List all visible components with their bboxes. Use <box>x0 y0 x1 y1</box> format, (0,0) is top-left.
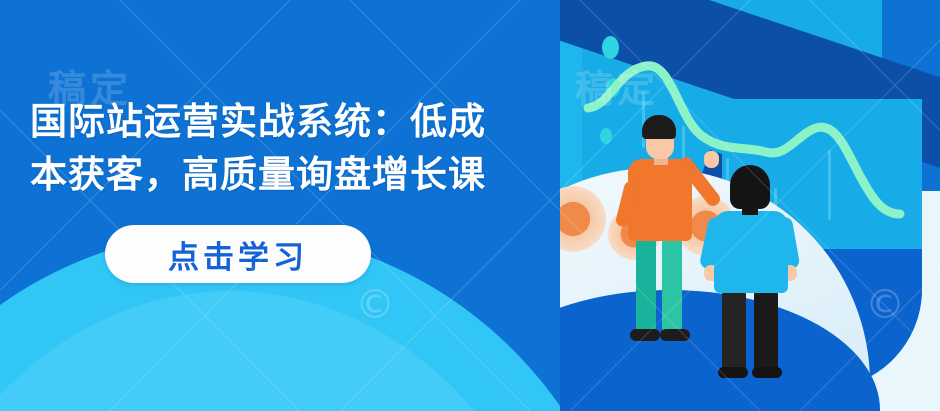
course-banner: 国际站运营实战系统：低成 本获客，高质量询盘增长课 点击学习 稿定 稿定 © © <box>0 0 940 411</box>
viewer-shoe-right <box>752 367 782 378</box>
cta-button[interactable]: 点击学习 <box>105 225 371 283</box>
headline-block: 国际站运营实战系统：低成 本获客，高质量询盘增长课 <box>30 96 630 201</box>
title-line-2: 本获客，高质量询盘增长课 <box>30 149 630 202</box>
presenter-shoe-right <box>660 329 690 341</box>
viewer-leg-left <box>722 289 746 373</box>
viewer-shoe-left <box>718 367 748 378</box>
viewer-torso <box>714 211 788 293</box>
figure-presenter <box>618 115 714 345</box>
presenter-torso <box>628 159 692 241</box>
figure-viewer <box>708 165 804 375</box>
viewer-hair <box>730 165 770 209</box>
presenter-leg-left <box>636 237 656 333</box>
illustration <box>560 0 940 411</box>
presenter-leg-right <box>662 237 682 333</box>
title-line-1: 国际站运营实战系统：低成 <box>30 96 630 149</box>
presenter-hair <box>642 115 676 139</box>
viewer-leg-right <box>754 289 778 373</box>
cta-button-label: 点击学习 <box>168 232 308 277</box>
presenter-shoe-left <box>630 329 660 341</box>
